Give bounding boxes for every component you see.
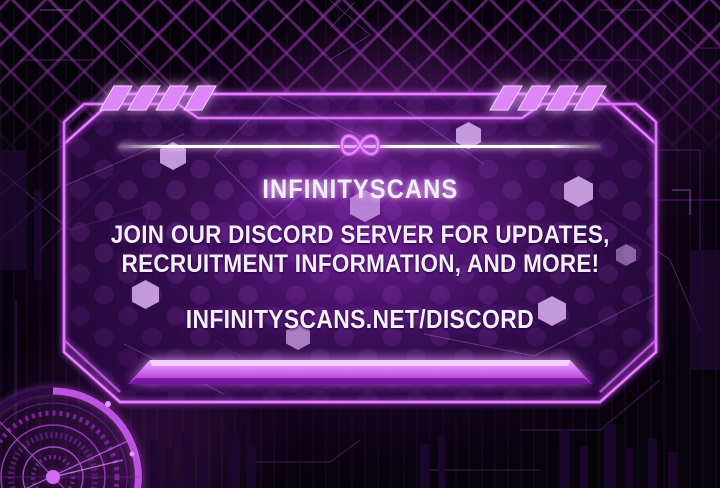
slash-marks-right — [490, 86, 606, 110]
infinity-icon — [330, 122, 390, 168]
promo-banner: INFINITYSCANS JOIN OUR DISCORD SERVER FO… — [0, 0, 720, 488]
bottom-glow-bar — [128, 360, 592, 384]
slash-marks-left — [100, 86, 216, 110]
frame-panel — [58, 88, 662, 408]
